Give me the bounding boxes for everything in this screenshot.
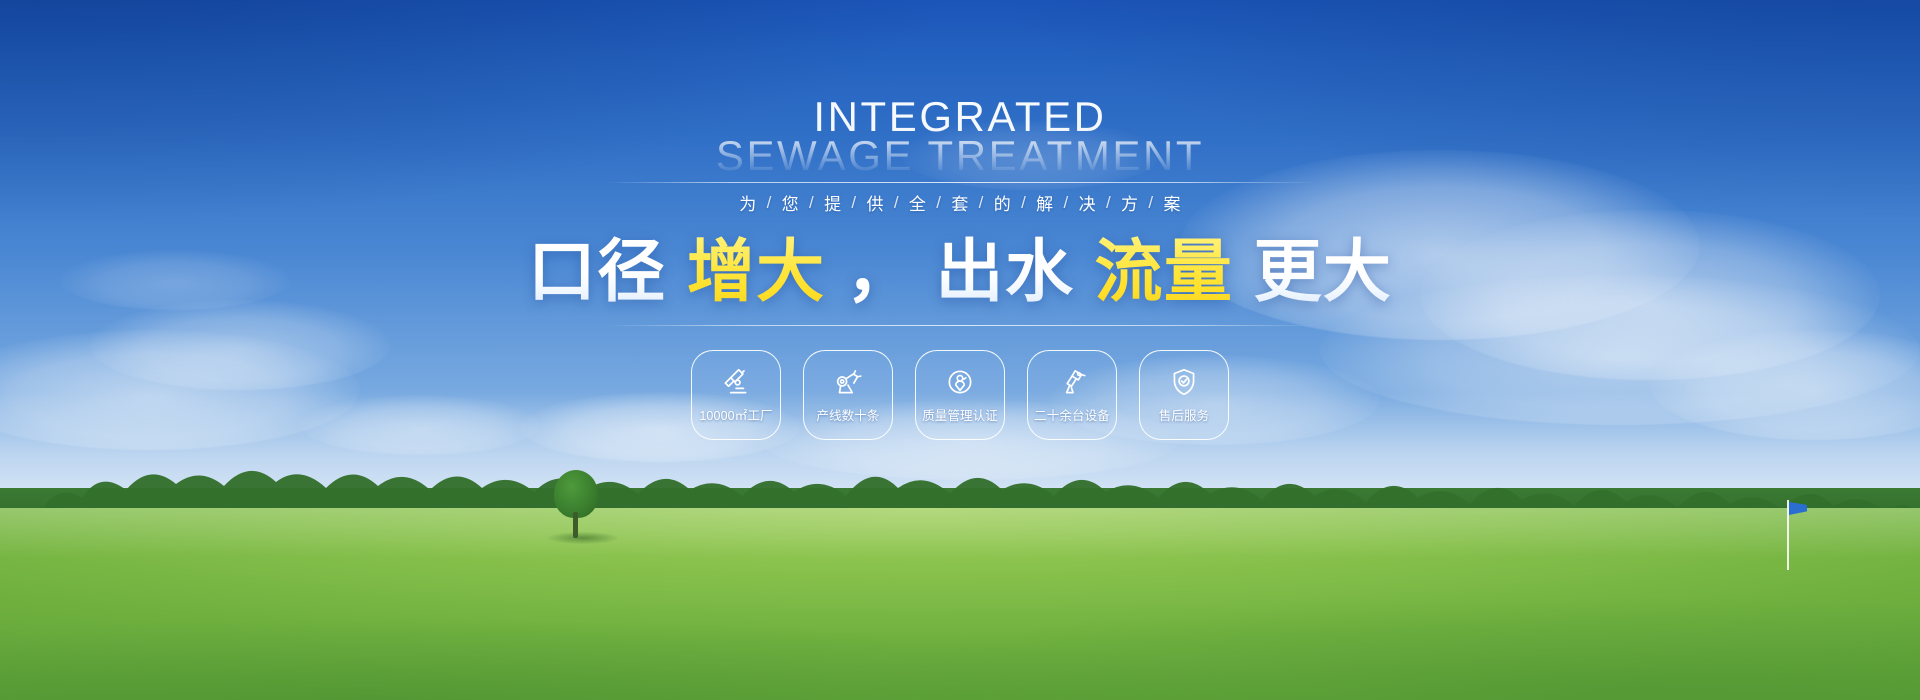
feature-badge-production-lines[interactable]: 产线数十条 [803,350,893,440]
hero-banner: INTEGRATED SEWAGE TREATMENT 为 / 您 / 提 / … [0,0,1920,700]
english-heading-line1: INTEGRATED [716,96,1204,137]
feature-badge-factory[interactable]: 10000㎡工厂 [691,350,781,440]
machine-icon [831,365,865,399]
subtitle-separator: / [1097,193,1120,213]
headline-segment-highlight: 增大 [687,234,826,310]
feature-badge-label: 产线数十条 [816,405,879,424]
shield-check-icon [1167,365,1201,399]
subtitle-char: 为 [738,190,757,215]
subtitle-separator: / [842,193,865,213]
feature-badge-label: 售后服务 [1159,405,1210,424]
subtitle-char: 套 [950,190,969,215]
subtitle-char: 解 [1035,190,1054,215]
banner-content: INTEGRATED SEWAGE TREATMENT 为 / 您 / 提 / … [0,0,1920,700]
headline-divider-bottom [605,325,1315,326]
subtitle-char: 的 [993,190,1012,215]
subtitle-char: 您 [781,190,800,215]
feature-badges: 10000㎡工厂 产线数十条 [691,350,1229,440]
headline-segment: 出水 [935,234,1074,310]
subtitle-separator: / [1055,193,1078,213]
headline-segment: 口径 [528,234,667,310]
subtitle-char: 决 [1078,190,1097,215]
headline-segment: 更大 [1253,234,1392,310]
subtitle-separator: / [885,193,908,213]
feature-badge-quality-certification[interactable]: 质量管理认证 [915,350,1005,440]
headline-segment-highlight: 流量 [1094,234,1233,310]
subtitle-separator: / [758,193,781,213]
certified-person-icon [943,365,977,399]
subtitle-char: 供 [865,190,884,215]
feature-badge-label: 二十余台设备 [1034,405,1110,424]
subtitle-char: 全 [908,190,927,215]
subtitle-separator: / [1139,193,1162,213]
subtitle-separator: / [927,193,950,213]
subtitle-char: 方 [1120,190,1139,215]
equipment-tool-icon [1055,365,1089,399]
microscope-icon [719,365,753,399]
subtitle-text: 为 / 您 / 提 / 供 / 全 / 套 / 的 / 解 / 决 / 方 / [738,183,1182,223]
english-heading-line2: SEWAGE TREATMENT [716,135,1204,176]
feature-badge-equipment[interactable]: 二十余台设备 [1027,350,1117,440]
subtitle-block: 为 / 您 / 提 / 供 / 全 / 套 / 的 / 解 / 决 / 方 / [605,182,1315,223]
subtitle-char: 案 [1162,190,1181,215]
subtitle-separator: / [970,193,993,213]
subtitle-separator: / [800,193,823,213]
headline: 口径 增大 ， 出水 流量 更大 [528,237,1392,308]
feature-badge-label: 10000㎡工厂 [699,405,772,424]
feature-badge-after-sales[interactable]: 售后服务 [1139,350,1229,440]
feature-badge-label: 质量管理认证 [922,405,998,424]
subtitle-char: 提 [823,190,842,215]
subtitle-separator: / [1012,193,1035,213]
headline-comma: ， [846,234,915,310]
english-heading: INTEGRATED SEWAGE TREATMENT [716,96,1204,176]
